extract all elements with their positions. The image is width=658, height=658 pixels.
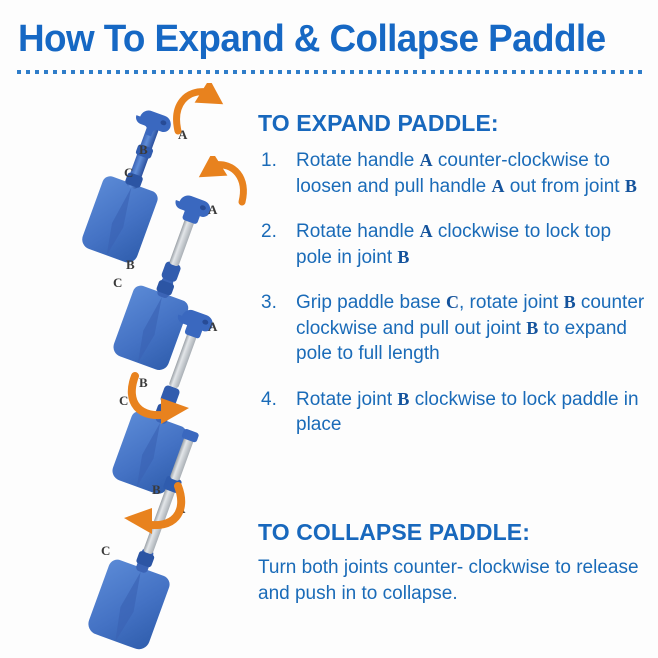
step-number: 3. xyxy=(261,290,277,316)
instructions-column: TO EXPAND PADDLE: 1.Rotate handle A coun… xyxy=(258,104,648,644)
rotation-arrow-clockwise-1 xyxy=(166,83,232,139)
step-number: 2. xyxy=(261,219,277,245)
part-label: C xyxy=(446,292,459,312)
header: How To Expand & Collapse Paddle xyxy=(0,0,658,82)
expand-step: 3.Grip paddle base C, rotate joint B cou… xyxy=(258,290,648,367)
expand-step: 2.Rotate handle A clockwise to lock top … xyxy=(258,219,648,270)
rotation-arrow-clockwise-4 xyxy=(108,478,192,540)
step-number: 4. xyxy=(261,387,277,413)
label-a-figure-3: A xyxy=(208,320,217,333)
step-number: 1. xyxy=(261,148,277,174)
part-label: B xyxy=(564,292,576,312)
collapse-heading: TO COLLAPSE PADDLE: xyxy=(258,519,530,546)
part-label: B xyxy=(526,318,538,338)
part-label: B xyxy=(397,389,409,409)
dotted-divider xyxy=(17,70,643,74)
infographic-page: How To Expand & Collapse Paddle xyxy=(0,0,658,658)
label-c-figure-2: C xyxy=(113,276,122,289)
label-b-figure-2: B xyxy=(126,258,135,271)
illustration-column: A B C xyxy=(0,78,258,658)
expand-step: 1.Rotate handle A counter-clockwise to l… xyxy=(258,148,648,199)
telescoping-pole-upper xyxy=(170,435,195,482)
part-label: A xyxy=(420,150,433,170)
step-text: Rotate joint B clockwise to lock paddle … xyxy=(296,389,639,436)
rotation-arrow-counterclockwise-2 xyxy=(192,156,254,210)
label-c-figure-4: C xyxy=(101,544,110,557)
page-title: How To Expand & Collapse Paddle xyxy=(18,18,627,60)
step-text: Rotate handle A counter-clockwise to loo… xyxy=(296,150,637,197)
label-b-figure-1: B xyxy=(139,143,148,156)
expand-step: 4.Rotate joint B clockwise to lock paddl… xyxy=(258,387,648,438)
part-label: A xyxy=(491,176,504,196)
expand-steps-list: 1.Rotate handle A counter-clockwise to l… xyxy=(258,148,648,458)
part-label: A xyxy=(420,221,433,241)
step-text: Rotate handle A clockwise to lock top po… xyxy=(296,221,611,268)
step-text: Grip paddle base C, rotate joint B count… xyxy=(296,292,644,364)
collapse-instructions: Turn both joints counter- clockwise to r… xyxy=(258,555,648,606)
part-label: B xyxy=(625,176,637,196)
expand-heading: TO EXPAND PADDLE: xyxy=(258,110,499,137)
part-label: B xyxy=(397,247,409,267)
